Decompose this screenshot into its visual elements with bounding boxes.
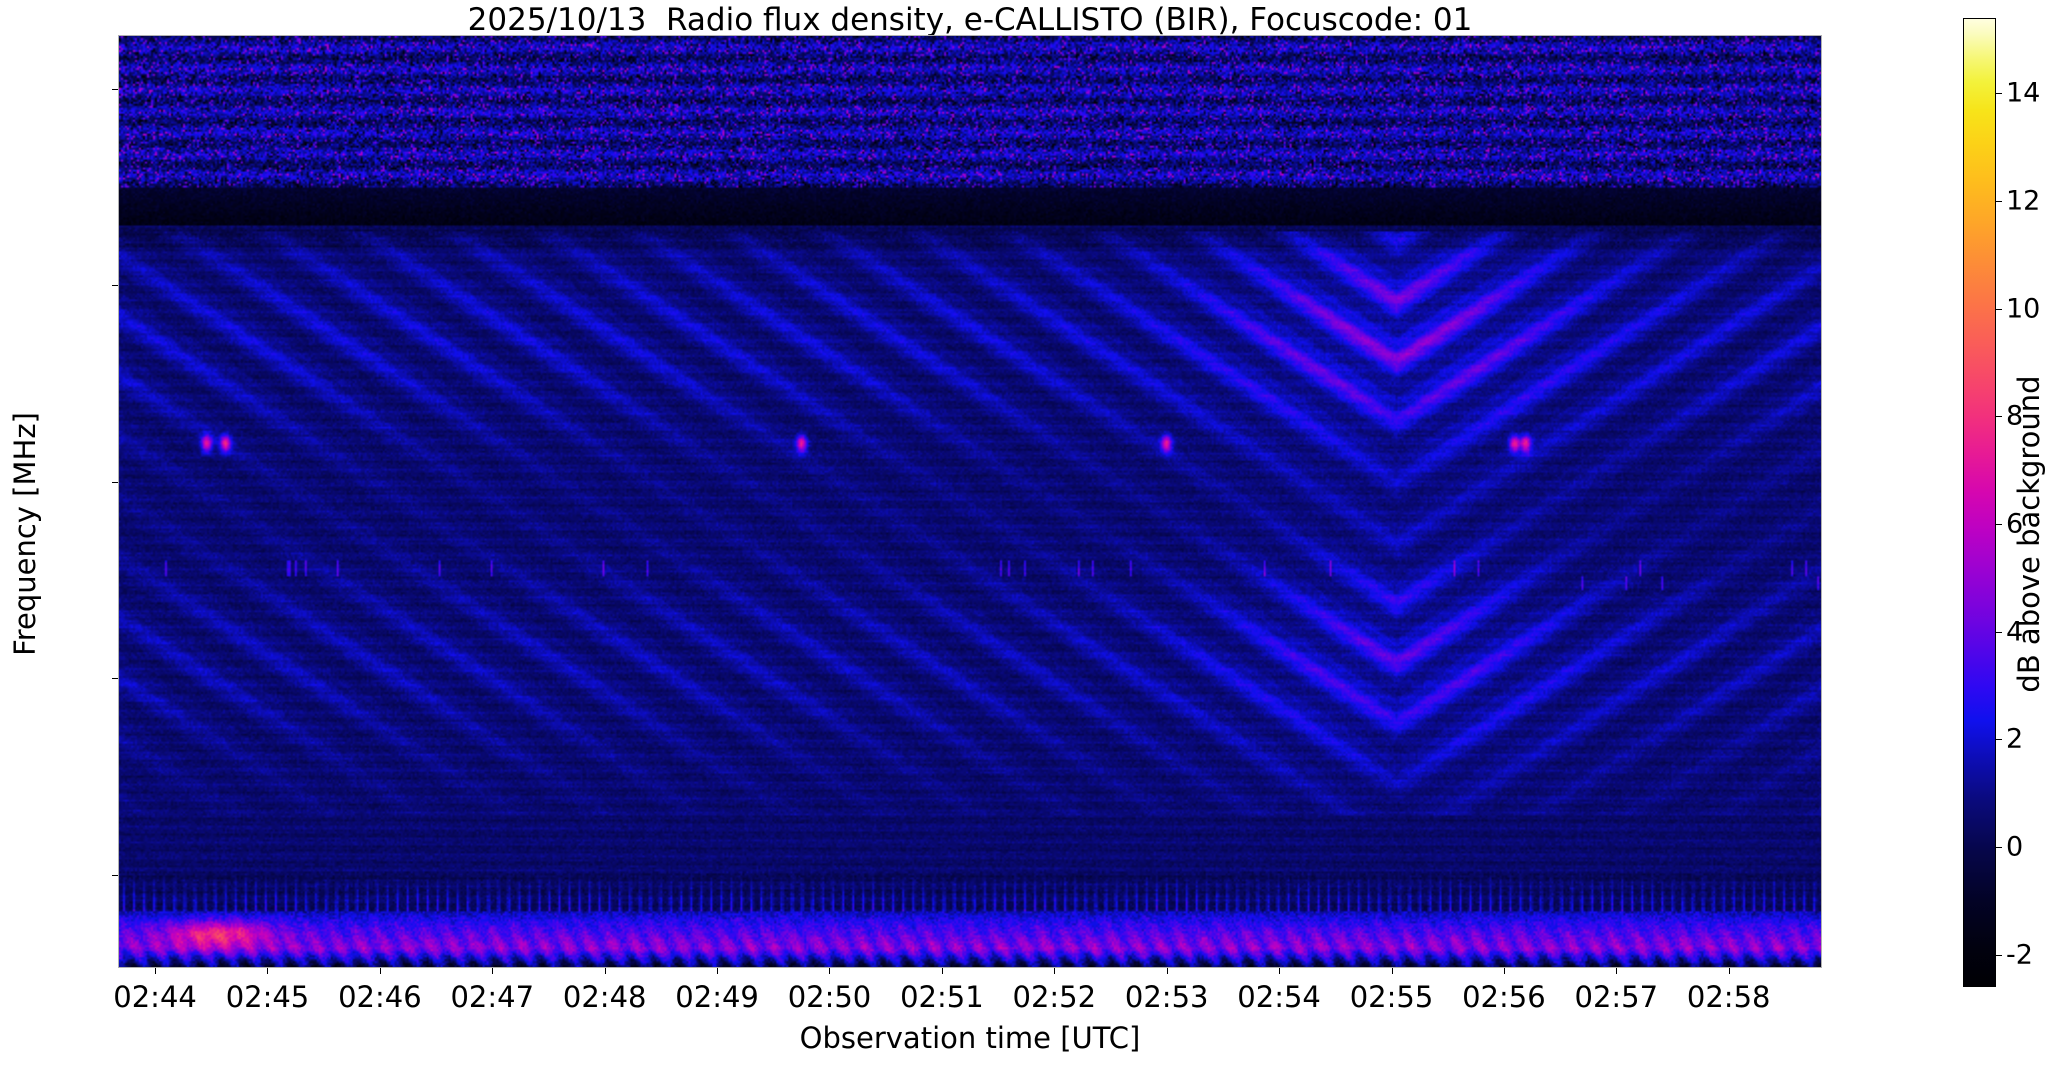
x-axis-tick-mark — [1167, 968, 1168, 974]
page-title: 2025/10/13 Radio flux density, e-CALLIST… — [0, 2, 1940, 38]
colorbar-tick-label: 0 — [2006, 832, 2023, 863]
y-axis-tick-mark — [112, 89, 118, 90]
x-axis-tick-mark — [267, 968, 268, 974]
y-axis-tick-mark — [112, 285, 118, 286]
colorbar-tick-mark — [1996, 632, 2002, 633]
x-axis-tick-mark — [717, 968, 718, 974]
x-axis-tick-mark — [829, 968, 830, 974]
y-axis-tick-mark — [112, 875, 118, 876]
y-axis-label: Frequency [MHz] — [8, 412, 42, 656]
colorbar-tick-label: 8 — [2006, 401, 2023, 432]
colorbar-gradient — [1964, 19, 1995, 986]
spectrogram-axes — [118, 35, 1822, 968]
x-axis-tick-mark — [1392, 968, 1393, 974]
colorbar-tick-mark — [1996, 201, 2002, 202]
colorbar — [1963, 18, 1996, 987]
colorbar-tick-label: 6 — [2006, 509, 2023, 540]
colorbar-tick-label: 4 — [2006, 616, 2023, 647]
x-axis-tick-mark — [1279, 968, 1280, 974]
x-axis-tick-mark — [1616, 968, 1617, 974]
colorbar-tick-mark — [1996, 309, 2002, 310]
colorbar-tick-label: 2 — [2006, 724, 2023, 755]
y-axis-tick-mark — [112, 678, 118, 679]
colorbar-tick-label: 10 — [2006, 293, 2040, 324]
x-axis-tick-label: 02:58 — [1649, 980, 1809, 1014]
colorbar-tick-mark — [1996, 847, 2002, 848]
colorbar-tick-mark — [1996, 416, 2002, 417]
x-axis-tick-mark — [1054, 968, 1055, 974]
x-axis-tick-mark — [492, 968, 493, 974]
x-axis-tick-mark — [155, 968, 156, 974]
x-axis-tick-mark — [605, 968, 606, 974]
colorbar-tick-label: 12 — [2006, 186, 2040, 217]
x-axis-tick-mark — [942, 968, 943, 974]
colorbar-tick-mark — [1996, 739, 2002, 740]
colorbar-tick-mark — [1996, 93, 2002, 94]
x-axis-tick-mark — [1729, 968, 1730, 974]
x-axis-tick-mark — [380, 968, 381, 974]
x-axis-label: Observation time [UTC] — [118, 1021, 1822, 1055]
x-axis-tick-mark — [1504, 968, 1505, 974]
figure-canvas: 2025/10/13 Radio flux density, e-CALLIST… — [0, 0, 2066, 1067]
colorbar-tick-mark — [1996, 524, 2002, 525]
colorbar-tick-label: -2 — [2006, 939, 2033, 970]
y-axis-tick-mark — [112, 482, 118, 483]
colorbar-tick-label: 14 — [2006, 78, 2040, 109]
spectrogram-image — [119, 36, 1821, 967]
colorbar-tick-mark — [1996, 955, 2002, 956]
